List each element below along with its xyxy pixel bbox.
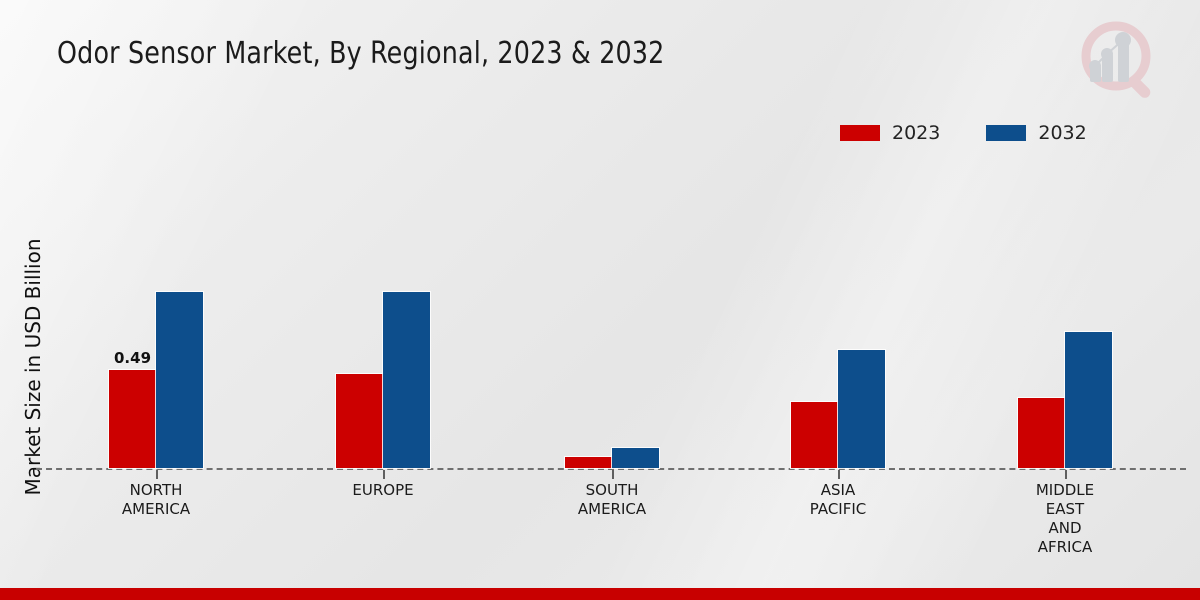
bar-2023-north-america[interactable]: 0.49	[109, 370, 156, 468]
axis-baseline	[36, 468, 1186, 470]
axis-tick	[1065, 470, 1067, 479]
footer-accent-bar	[0, 588, 1200, 600]
bar-group: 0.49	[96, 208, 216, 468]
axis-tick	[383, 470, 385, 479]
category-label: ASIAPACIFIC	[743, 481, 933, 519]
plot-area: 0.49NORTHAMERICAEUROPESOUTHAMERICAASIAPA…	[0, 0, 1200, 600]
axis-tick	[156, 470, 158, 479]
category-label: NORTHAMERICA	[61, 481, 251, 519]
category-label: EUROPE	[288, 481, 478, 500]
bar-2032-north-america[interactable]	[156, 292, 203, 468]
category-label: MIDDLEEASTANDAFRICA	[970, 481, 1160, 557]
chart-page: Odor Sensor Market, By Regional, 2023 & …	[0, 0, 1200, 600]
bar-group	[323, 208, 443, 468]
bar-group	[1005, 208, 1125, 468]
bar-2032-europe[interactable]	[383, 292, 430, 468]
bar-2032-south-america[interactable]	[612, 448, 659, 468]
bar-2023-europe[interactable]	[336, 374, 383, 468]
bar-value-label: 0.49	[114, 349, 151, 367]
bar-2032-asia-pacific[interactable]	[838, 350, 885, 468]
bar-group	[552, 208, 672, 468]
bar-group	[778, 208, 898, 468]
bar-2032-middle-east-and-africa[interactable]	[1065, 332, 1112, 468]
axis-tick	[612, 470, 614, 479]
axis-tick	[838, 470, 840, 479]
category-label: SOUTHAMERICA	[517, 481, 707, 519]
bar-2023-south-america[interactable]	[565, 457, 612, 468]
bar-2023-asia-pacific[interactable]	[791, 402, 838, 468]
bar-2023-middle-east-and-africa[interactable]	[1018, 398, 1065, 468]
